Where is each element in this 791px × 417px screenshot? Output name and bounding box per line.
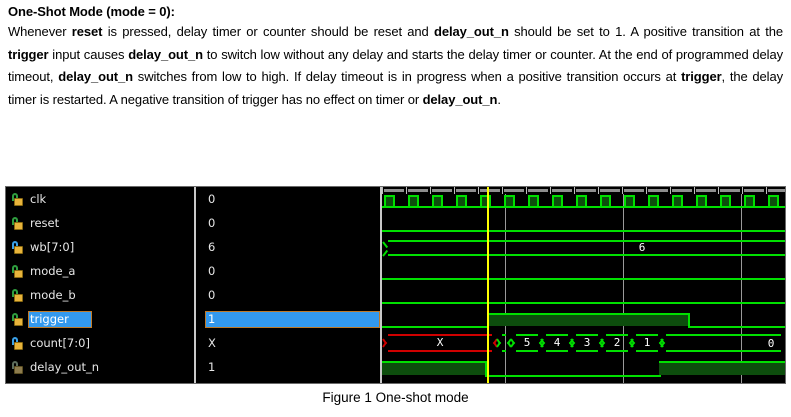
clk-falling-edge	[585, 195, 587, 206]
bus-signal-lock-icon	[11, 241, 24, 254]
signal-value-row[interactable]: 0	[196, 187, 380, 211]
time-cursor[interactable]	[487, 187, 489, 383]
signal-value-row[interactable]: X	[196, 331, 380, 355]
clk-falling-edge	[441, 195, 443, 206]
signal-name-label[interactable]: clk	[28, 191, 50, 208]
wb-bus-left-chevron-upper	[382, 241, 388, 248]
clk-falling-edge	[561, 195, 563, 206]
clk-rising-edge	[768, 195, 770, 206]
emphasis-term: trigger	[8, 47, 48, 62]
signal-lock-icon	[11, 193, 24, 206]
ruler-tick	[550, 187, 551, 194]
ruler-tick	[382, 187, 383, 194]
ruler-tick	[670, 187, 671, 194]
ruler-segment	[552, 189, 572, 192]
signal-value-label[interactable]: 1	[206, 359, 217, 375]
count-transition-cell	[498, 334, 510, 352]
body-text: input causes	[48, 47, 128, 62]
clk-falling-edge	[633, 195, 635, 206]
ruler-tick	[454, 187, 455, 194]
body-text: Whenever	[8, 24, 72, 39]
signal-row[interactable]: mode_a	[6, 259, 194, 283]
clk-rising-edge	[480, 195, 482, 206]
signal-value-label[interactable]: 0	[206, 263, 217, 279]
clk-rising-edge	[504, 195, 506, 206]
count-final-value-label: 0	[761, 337, 781, 350]
signal-row[interactable]: count[7:0]	[6, 331, 194, 355]
signal-lock-icon	[11, 313, 24, 326]
signal-value-row[interactable]: 0	[196, 211, 380, 235]
signal-value-label[interactable]: 6	[206, 239, 217, 255]
delay-out-high-before	[382, 361, 487, 363]
clk-rising-edge	[672, 195, 674, 206]
body-text: .	[497, 92, 501, 107]
delay-out-high-fill-before	[382, 363, 487, 375]
signal-value-label[interactable]: X	[206, 335, 218, 351]
clk-falling-edge	[681, 195, 683, 206]
ruler-segment	[696, 189, 716, 192]
document-text-block: One-Shot Mode (mode = 0): Whenever reset…	[8, 2, 783, 111]
waveform-plot-area[interactable]: 6X543210	[382, 187, 785, 383]
emphasis-term: delay_out_n	[434, 24, 509, 39]
clk-rising-edge	[696, 195, 698, 206]
signal-value-label[interactable]: 0	[206, 191, 217, 207]
ruler-tick	[478, 187, 479, 194]
time-ruler[interactable]	[382, 187, 785, 194]
clk-falling-edge	[489, 195, 491, 206]
ruler-tick	[574, 187, 575, 194]
delay-out-high-fill-after	[659, 363, 785, 375]
signal-lock-icon	[11, 217, 24, 230]
emphasis-term: trigger	[681, 69, 721, 84]
grid-marker-line	[623, 194, 624, 383]
ruler-tick	[718, 187, 719, 194]
signal-name-label[interactable]: mode_b	[28, 287, 80, 304]
clk-rising-edge	[744, 195, 746, 206]
body-text: switches from low to high. If delay time…	[133, 69, 681, 84]
ruler-segment	[624, 189, 644, 192]
ruler-segment	[504, 189, 524, 192]
delay-out-low-level	[487, 375, 659, 377]
ruler-tick	[694, 187, 695, 194]
clk-rising-edge	[720, 195, 722, 206]
trigger-high-level	[487, 313, 690, 315]
ruler-tick	[742, 187, 743, 194]
ruler-tick	[646, 187, 647, 194]
section-paragraph: Whenever reset is pressed, delay timer o…	[8, 21, 783, 111]
ruler-segment	[672, 189, 692, 192]
ruler-tick	[526, 187, 527, 194]
ruler-tick	[598, 187, 599, 194]
emphasis-term: reset	[72, 24, 103, 39]
clk-falling-edge	[657, 195, 659, 206]
ruler-segment	[408, 189, 428, 192]
wb-bus-top	[388, 240, 785, 242]
ruler-segment	[648, 189, 668, 192]
signal-name-label[interactable]: trigger	[28, 311, 92, 328]
signal-row[interactable]: trigger	[6, 307, 194, 331]
body-text: is pressed, delay timer or counter shoul…	[102, 24, 434, 39]
trigger-low-before	[382, 326, 487, 328]
ruler-segment	[528, 189, 548, 192]
signal-lock-icon	[11, 289, 24, 302]
signal-value-row[interactable]: 1	[196, 307, 380, 331]
mode-low-level	[382, 302, 785, 304]
signal-name-label[interactable]: mode_a	[28, 263, 79, 280]
clk-rising-edge	[624, 195, 626, 206]
clk-falling-edge	[753, 195, 755, 206]
clk-rising-edge	[528, 195, 530, 206]
ruler-tick	[430, 187, 431, 194]
ruler-segment	[744, 189, 764, 192]
grid-marker-line	[741, 194, 742, 383]
clk-rising-edge	[576, 195, 578, 206]
clk-rising-edge	[408, 195, 410, 206]
ruler-segment	[456, 189, 476, 192]
wb-bus-bottom	[388, 254, 785, 256]
clk-rising-edge	[648, 195, 650, 206]
signal-row[interactable]: reset	[6, 211, 194, 235]
clk-falling-edge	[609, 195, 611, 206]
signal-name-label[interactable]: reset	[28, 215, 63, 232]
clk-rising-edge	[384, 195, 386, 206]
count-unknown-cell: X	[384, 334, 496, 352]
clk-falling-edge	[705, 195, 707, 206]
signal-name-label[interactable]: wb[7:0]	[28, 239, 78, 256]
ruler-segment	[576, 189, 596, 192]
reset-low-level	[382, 230, 785, 232]
ruler-segment	[384, 189, 404, 192]
ruler-segment	[480, 189, 500, 192]
waveform-viewer[interactable]: clkresetwb[7:0]mode_amode_btriggercount[…	[5, 186, 786, 384]
signal-value-column[interactable]: 006001X1	[196, 187, 380, 383]
count-value-cell: 5	[512, 334, 542, 352]
body-text: should be set to 1. A positive transitio…	[509, 24, 783, 39]
signal-lock-dim-icon	[11, 361, 24, 374]
clk-rising-edge	[552, 195, 554, 206]
ruler-tick	[766, 187, 767, 194]
signal-row[interactable]: wb[7:0]	[6, 235, 194, 259]
clk-rising-edge	[456, 195, 458, 206]
emphasis-term: delay_out_n	[423, 92, 498, 107]
grid-marker-line	[505, 194, 506, 383]
clk-rising-edge	[432, 195, 434, 206]
signal-value-row[interactable]: 0	[196, 259, 380, 283]
signal-value-row[interactable]: 1	[196, 355, 380, 379]
ruler-tick	[622, 187, 623, 194]
ruler-segment	[768, 189, 785, 192]
clk-falling-edge	[777, 195, 779, 206]
clk-falling-edge	[393, 195, 395, 206]
wb-bus-value-label: 6	[622, 241, 662, 254]
clk-falling-edge	[729, 195, 731, 206]
count-value-cell: 1	[632, 334, 662, 352]
signal-value-row[interactable]: 6	[196, 235, 380, 259]
count-value-cell: 2	[602, 334, 632, 352]
ruler-segment	[720, 189, 740, 192]
signal-name-label[interactable]: delay_out_n	[28, 359, 103, 376]
ruler-segment	[432, 189, 452, 192]
signal-name-label[interactable]: count[7:0]	[28, 335, 94, 352]
clk-falling-edge	[537, 195, 539, 206]
signal-value-label[interactable]: 0	[206, 287, 217, 303]
count-value-cell: 3	[572, 334, 602, 352]
trigger-high-fill	[487, 315, 690, 326]
clk-falling-edge	[417, 195, 419, 206]
section-heading: One-Shot Mode (mode = 0):	[8, 2, 783, 21]
clk-falling-edge	[465, 195, 467, 206]
clk-low-level	[382, 206, 785, 208]
clk-rising-edge	[600, 195, 602, 206]
ruler-segment	[600, 189, 620, 192]
bus-signal-lock-icon	[11, 337, 24, 350]
delay-out-high-after	[659, 361, 785, 363]
signal-row[interactable]: mode_b	[6, 283, 194, 307]
trigger-low-after	[690, 326, 785, 328]
signal-value-label[interactable]: 1	[205, 311, 380, 328]
ruler-tick	[502, 187, 503, 194]
mode-low-level	[382, 278, 785, 280]
figure-caption: Figure 1 One-shot mode	[0, 390, 791, 405]
count-value-cell: 4	[542, 334, 572, 352]
signal-row[interactable]: delay_out_n	[6, 355, 194, 379]
emphasis-term: delay_out_n	[128, 47, 203, 62]
clk-falling-edge	[513, 195, 515, 206]
signal-name-column[interactable]: clkresetwb[7:0]mode_amode_btriggercount[…	[6, 187, 194, 383]
ruler-tick	[406, 187, 407, 194]
signal-row[interactable]: clk	[6, 187, 194, 211]
signal-value-label[interactable]: 0	[206, 215, 217, 231]
signal-value-row[interactable]: 0	[196, 283, 380, 307]
emphasis-term: delay_out_n	[58, 69, 133, 84]
signal-lock-icon	[11, 265, 24, 278]
